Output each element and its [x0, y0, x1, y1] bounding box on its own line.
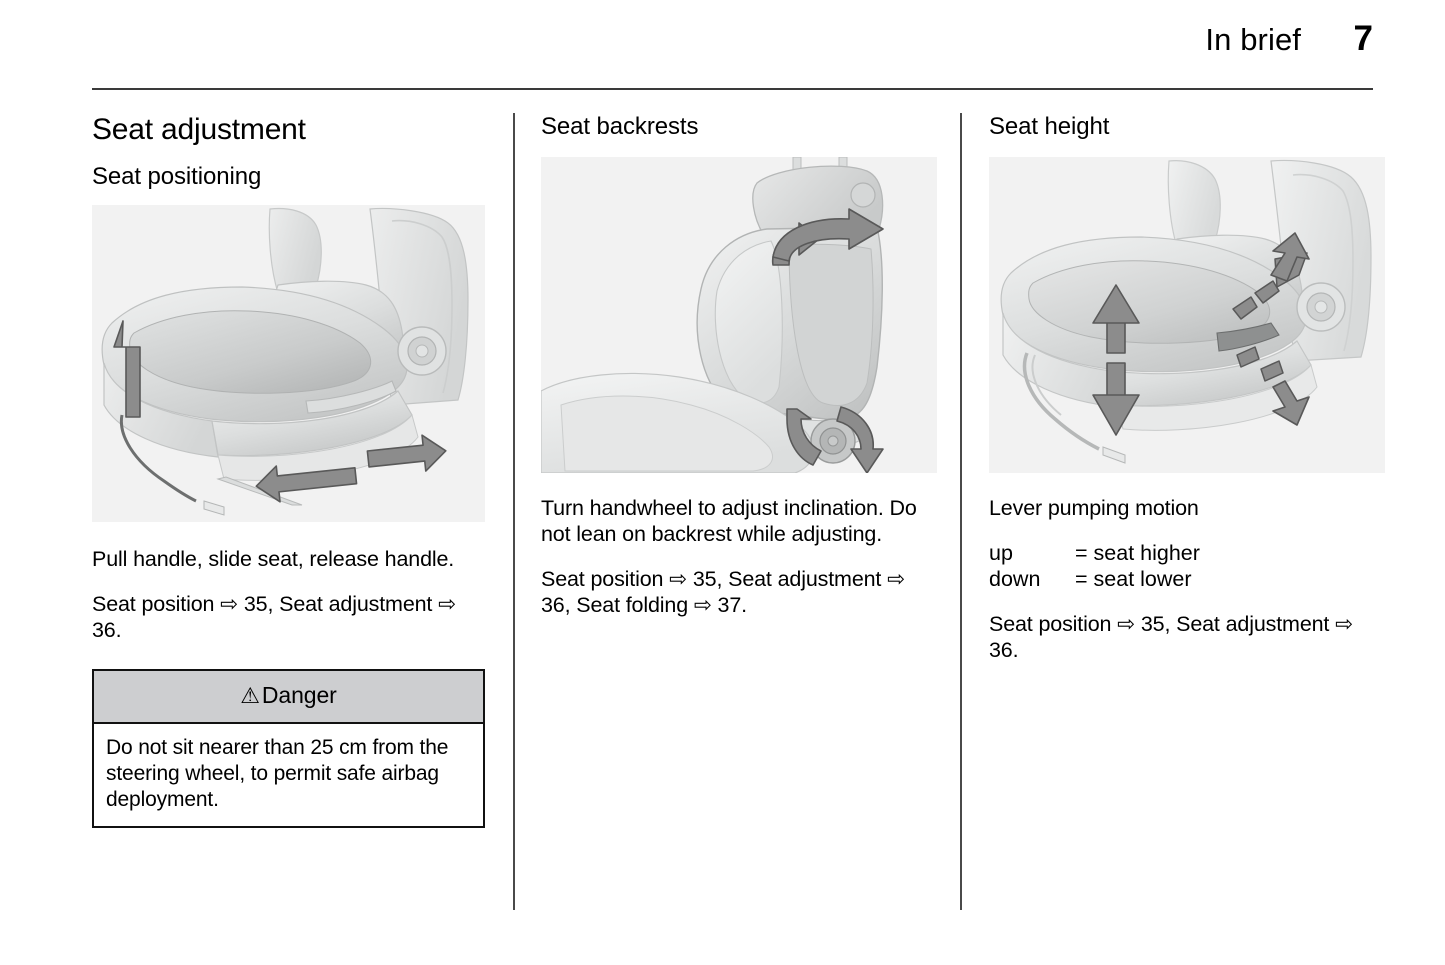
- subsection-title-seat-backrests: Seat backrests: [541, 113, 937, 141]
- column-seat-adjustment: Seat adjustment Seat positioning: [92, 113, 485, 828]
- seat-backrest-illustration: [541, 157, 937, 473]
- seat-headrest: [1168, 161, 1220, 247]
- paragraph-seat-position-xref: Seat position ⇨ 35, Seat adjustment ⇨ 36…: [989, 611, 1385, 663]
- paragraph-seat-position-xref: Seat position ⇨ 35, Seat adjustment ⇨ 36…: [92, 591, 485, 643]
- definition-value-down: = seat lower: [1075, 566, 1192, 592]
- seat-height-definitions: up = seat higher down = seat lower: [989, 540, 1385, 592]
- subsection-title-seat-positioning: Seat positioning: [92, 163, 485, 191]
- definition-row-down: down = seat lower: [989, 566, 1385, 592]
- seat-positioning-illustration: [92, 205, 485, 522]
- seat-headrest: [269, 209, 321, 293]
- column-divider-2: [960, 113, 962, 910]
- danger-notice: ⚠Danger Do not sit nearer than 25 cm fro…: [92, 669, 485, 828]
- definition-value-up: = seat higher: [1075, 540, 1200, 566]
- danger-notice-header: ⚠Danger: [94, 671, 483, 724]
- paragraph-seat-position-xref: Seat position ⇨ 35, Seat adjustment ⇨ 36…: [541, 566, 937, 618]
- section-title-seat-adjustment: Seat adjustment: [92, 113, 485, 147]
- paragraph-turn-handwheel: Turn handwheel to adjust inclination. Do…: [541, 495, 937, 547]
- seat-height-illustration: [989, 157, 1385, 473]
- danger-notice-title: Danger: [262, 682, 337, 708]
- definition-key-up: up: [989, 540, 1075, 566]
- seat-rail: [204, 501, 224, 515]
- seat-rail: [1103, 447, 1125, 463]
- header-rule: [92, 88, 1373, 90]
- danger-notice-body: Do not sit nearer than 25 cm from the st…: [94, 724, 483, 826]
- page-header: In brief 7: [92, 22, 1373, 74]
- page-number: 7: [1354, 19, 1373, 59]
- page-title: In brief: [1205, 22, 1301, 58]
- definition-row-up: up = seat higher: [989, 540, 1385, 566]
- column-divider-1: [513, 113, 515, 910]
- column-seat-height: Seat height: [989, 113, 1385, 663]
- definition-key-down: down: [989, 566, 1075, 592]
- subsection-title-seat-height: Seat height: [989, 113, 1385, 141]
- paragraph-pull-handle: Pull handle, slide seat, release handle.: [92, 546, 485, 572]
- paragraph-lever-pumping-motion: Lever pumping motion: [989, 495, 1385, 521]
- warning-triangle-icon: ⚠: [240, 684, 260, 709]
- column-seat-backrests: Seat backrests: [541, 113, 937, 618]
